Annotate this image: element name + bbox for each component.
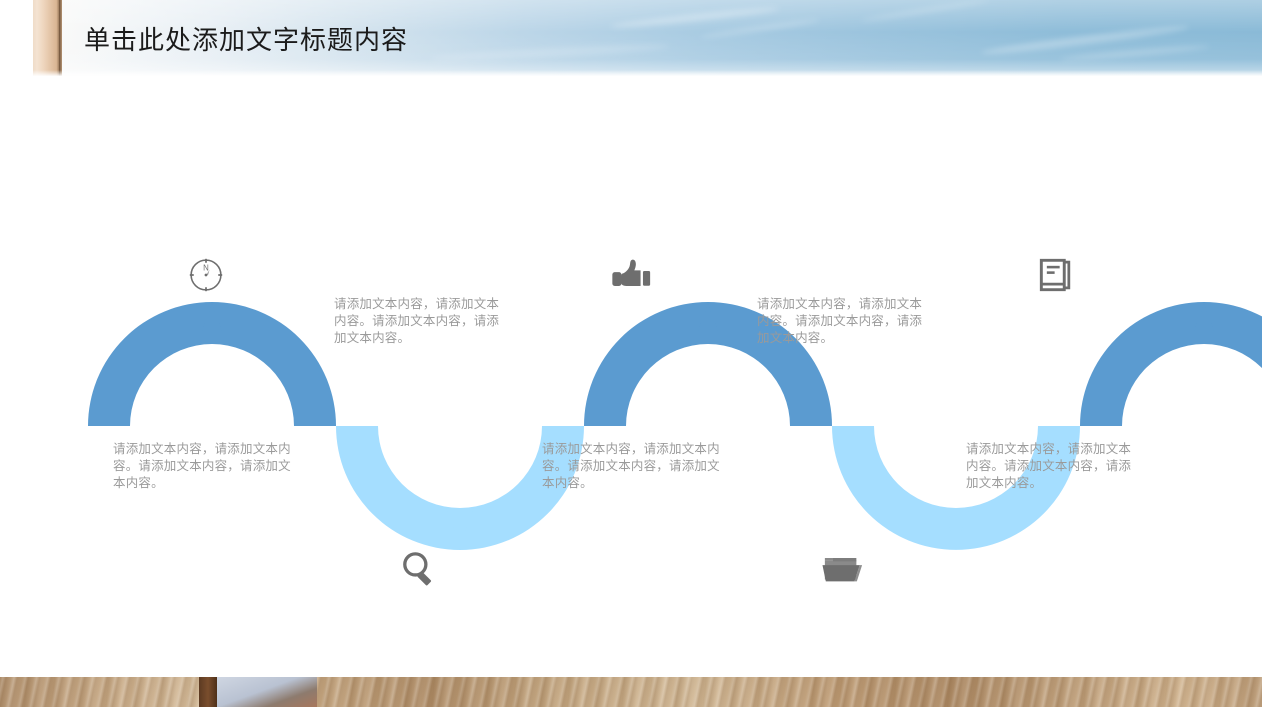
slide-canvas: 单击此处添加文字标题内容	[0, 0, 1262, 707]
wave-diagram: N	[0, 0, 1262, 707]
wave-arcs-graphic	[70, 320, 1190, 530]
footer-wood-texture	[0, 677, 1262, 707]
slide-footer	[0, 677, 1262, 707]
node-text-1: 请添加文本内容，请添加文本内容。请添加文本内容，请添加文本内容。	[113, 441, 295, 492]
footer-screen-reflection	[217, 677, 317, 707]
arc-top-3[interactable]	[1080, 302, 1262, 426]
footer-dark-seam	[199, 677, 217, 707]
node-text-5: 请添加文本内容，请添加文本内容。请添加文本内容，请添加文本内容。	[966, 441, 1142, 492]
node-text-3: 请添加文本内容，请添加文本内容。请添加文本内容，请添加文本内容。	[542, 441, 722, 492]
folder-icon-glyph	[820, 548, 866, 590]
compass-icon[interactable]: N	[178, 247, 234, 303]
magnifier-icon-glyph	[397, 547, 441, 591]
thumbs-up-icon-glyph	[608, 253, 654, 297]
thumbs-up-icon[interactable]	[603, 247, 659, 303]
magnifier-icon[interactable]	[391, 541, 447, 597]
folder-icon[interactable]	[815, 541, 871, 597]
arc-top-1[interactable]	[88, 302, 336, 426]
node-text-2: 请添加文本内容，请添加文本内容。请添加文本内容，请添加文本内容。	[334, 296, 506, 347]
svg-text:N: N	[203, 264, 209, 273]
compass-icon-glyph: N	[185, 254, 227, 296]
node-text-4: 请添加文本内容，请添加文本内容。请添加文本内容，请添加文本内容。	[757, 296, 929, 347]
book-icon-glyph	[1034, 253, 1078, 297]
book-icon[interactable]	[1028, 247, 1084, 303]
